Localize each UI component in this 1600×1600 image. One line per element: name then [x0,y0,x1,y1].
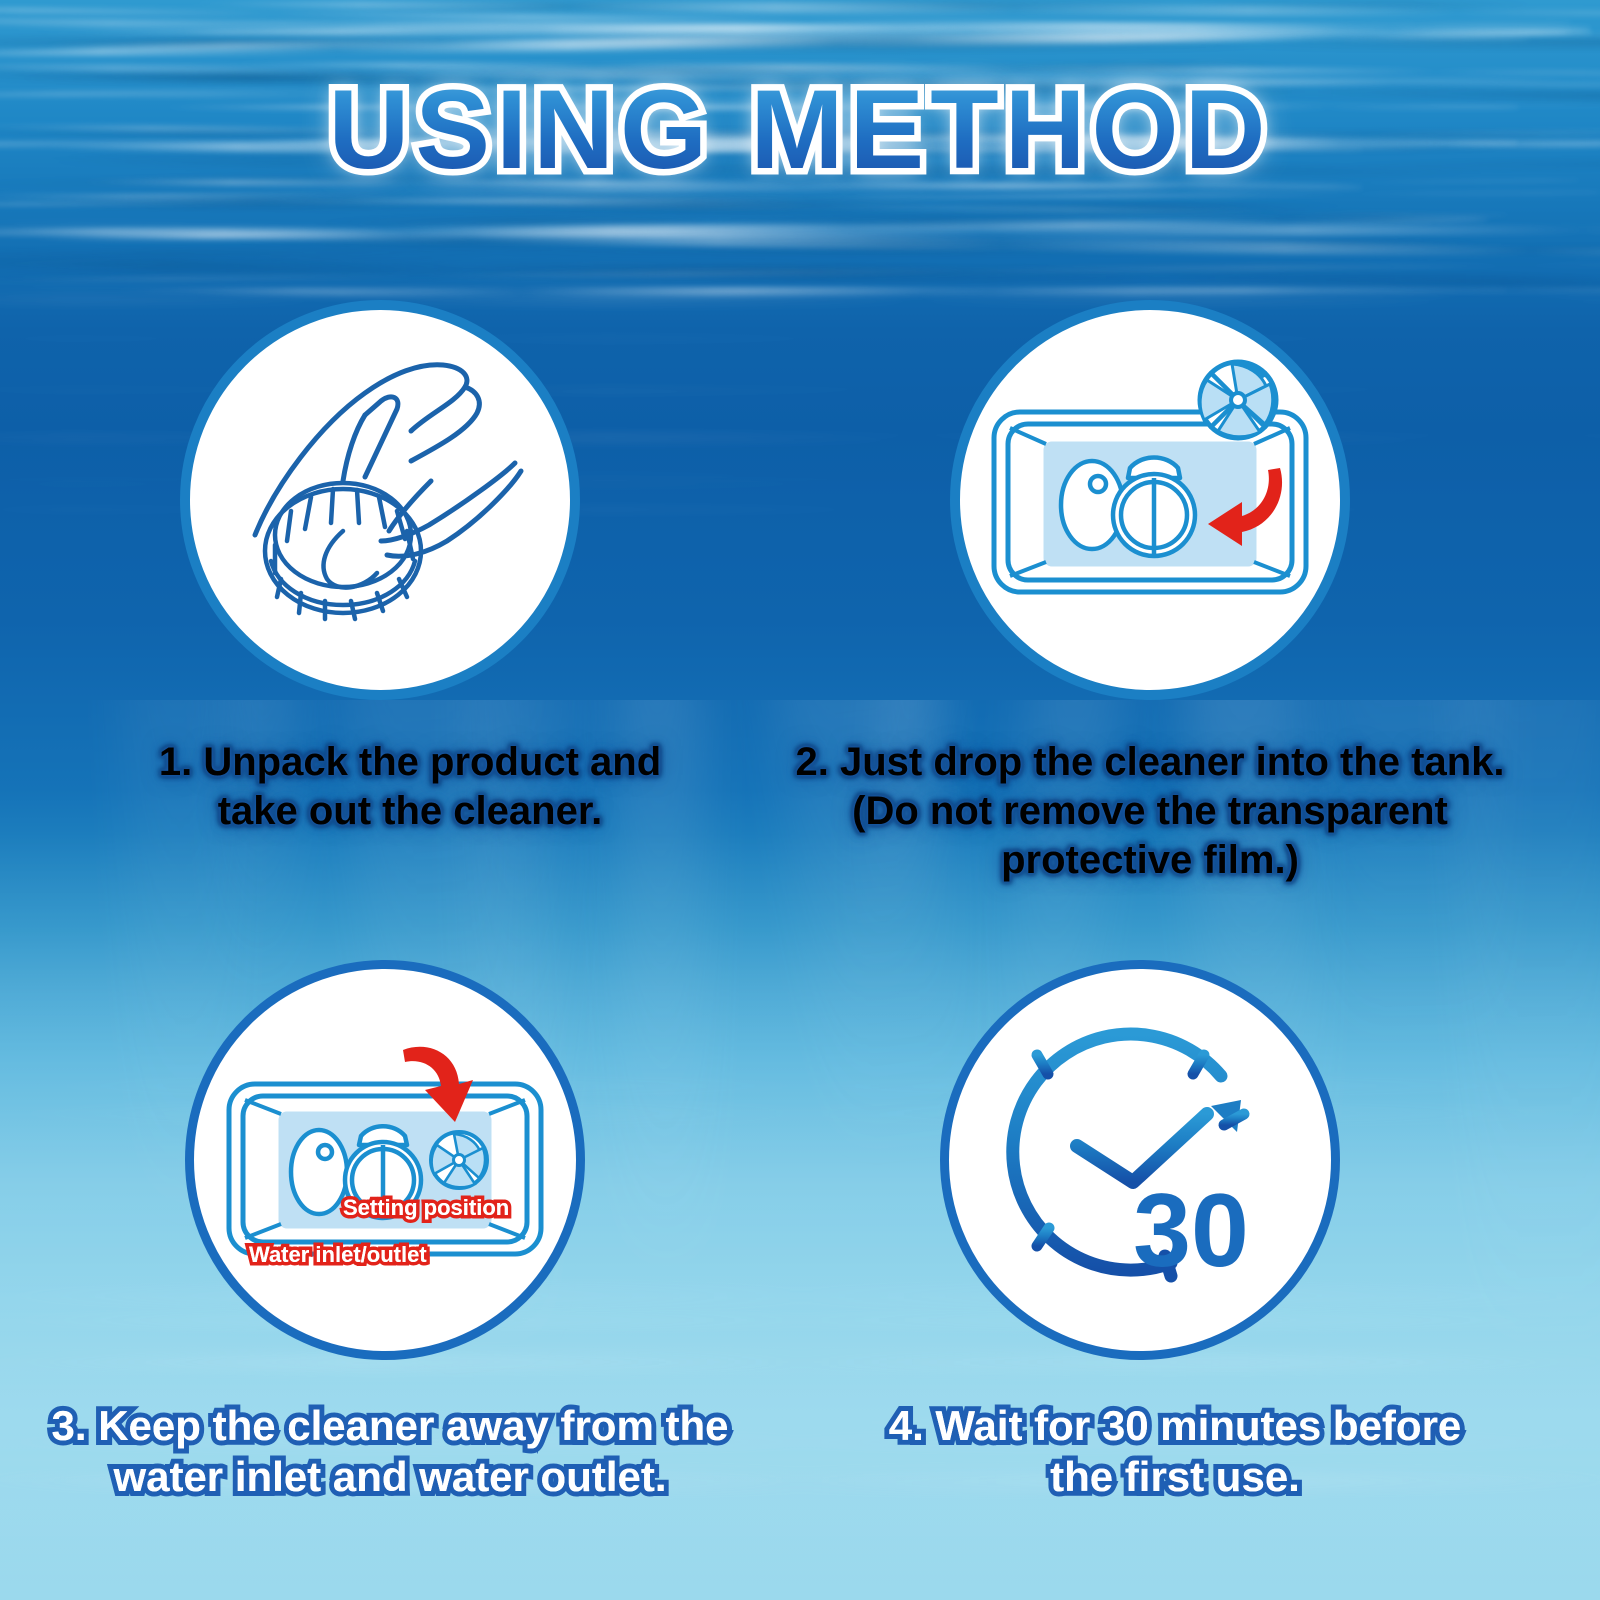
toilet-tank-drop-cleaner-icon [980,350,1320,650]
step-4-icon-circle: 30 [940,960,1340,1360]
infographic-poster: USING METHOD USING METHOD [0,0,1600,1600]
clock-30-minutes-icon: 30 [985,1010,1295,1310]
hand-holding-cleaner-disc-icon [215,335,545,665]
setting-position-label: Setting position [343,1195,509,1221]
page-title-outline: USING METHOD [0,74,1600,186]
step-2-caption: 2. Just drop the cleaner into the tank. … [790,738,1510,884]
water-inlet-outlet-label: Water inlet/outlet [249,1242,427,1268]
step-3-caption-wrap: 3. Keep the cleaner away from the water … [20,1400,760,1520]
step-4-caption: 4. Wait for 30 minutes before the first … [830,1400,1520,1502]
step-1-caption-wrap: 1. Unpack the product and take out the c… [60,738,760,848]
cleaner-disc-icon [431,1132,487,1188]
step-2-icon-circle [950,300,1350,700]
step-2-caption-wrap: 2. Just drop the cleaner into the tank. … [790,738,1510,898]
cleaner-disc-icon [1200,362,1276,438]
step-3-icon-circle: Setting position Setting position Water … [185,960,585,1360]
clock-value-text: 30 [1133,1173,1249,1289]
step-4-caption-wrap: 4. Wait for 30 minutes before the first … [830,1400,1520,1520]
step-1-icon-circle [180,300,580,700]
step-1-caption: 1. Unpack the product and take out the c… [60,738,760,836]
step-3-caption: 3. Keep the cleaner away from the water … [20,1400,760,1502]
